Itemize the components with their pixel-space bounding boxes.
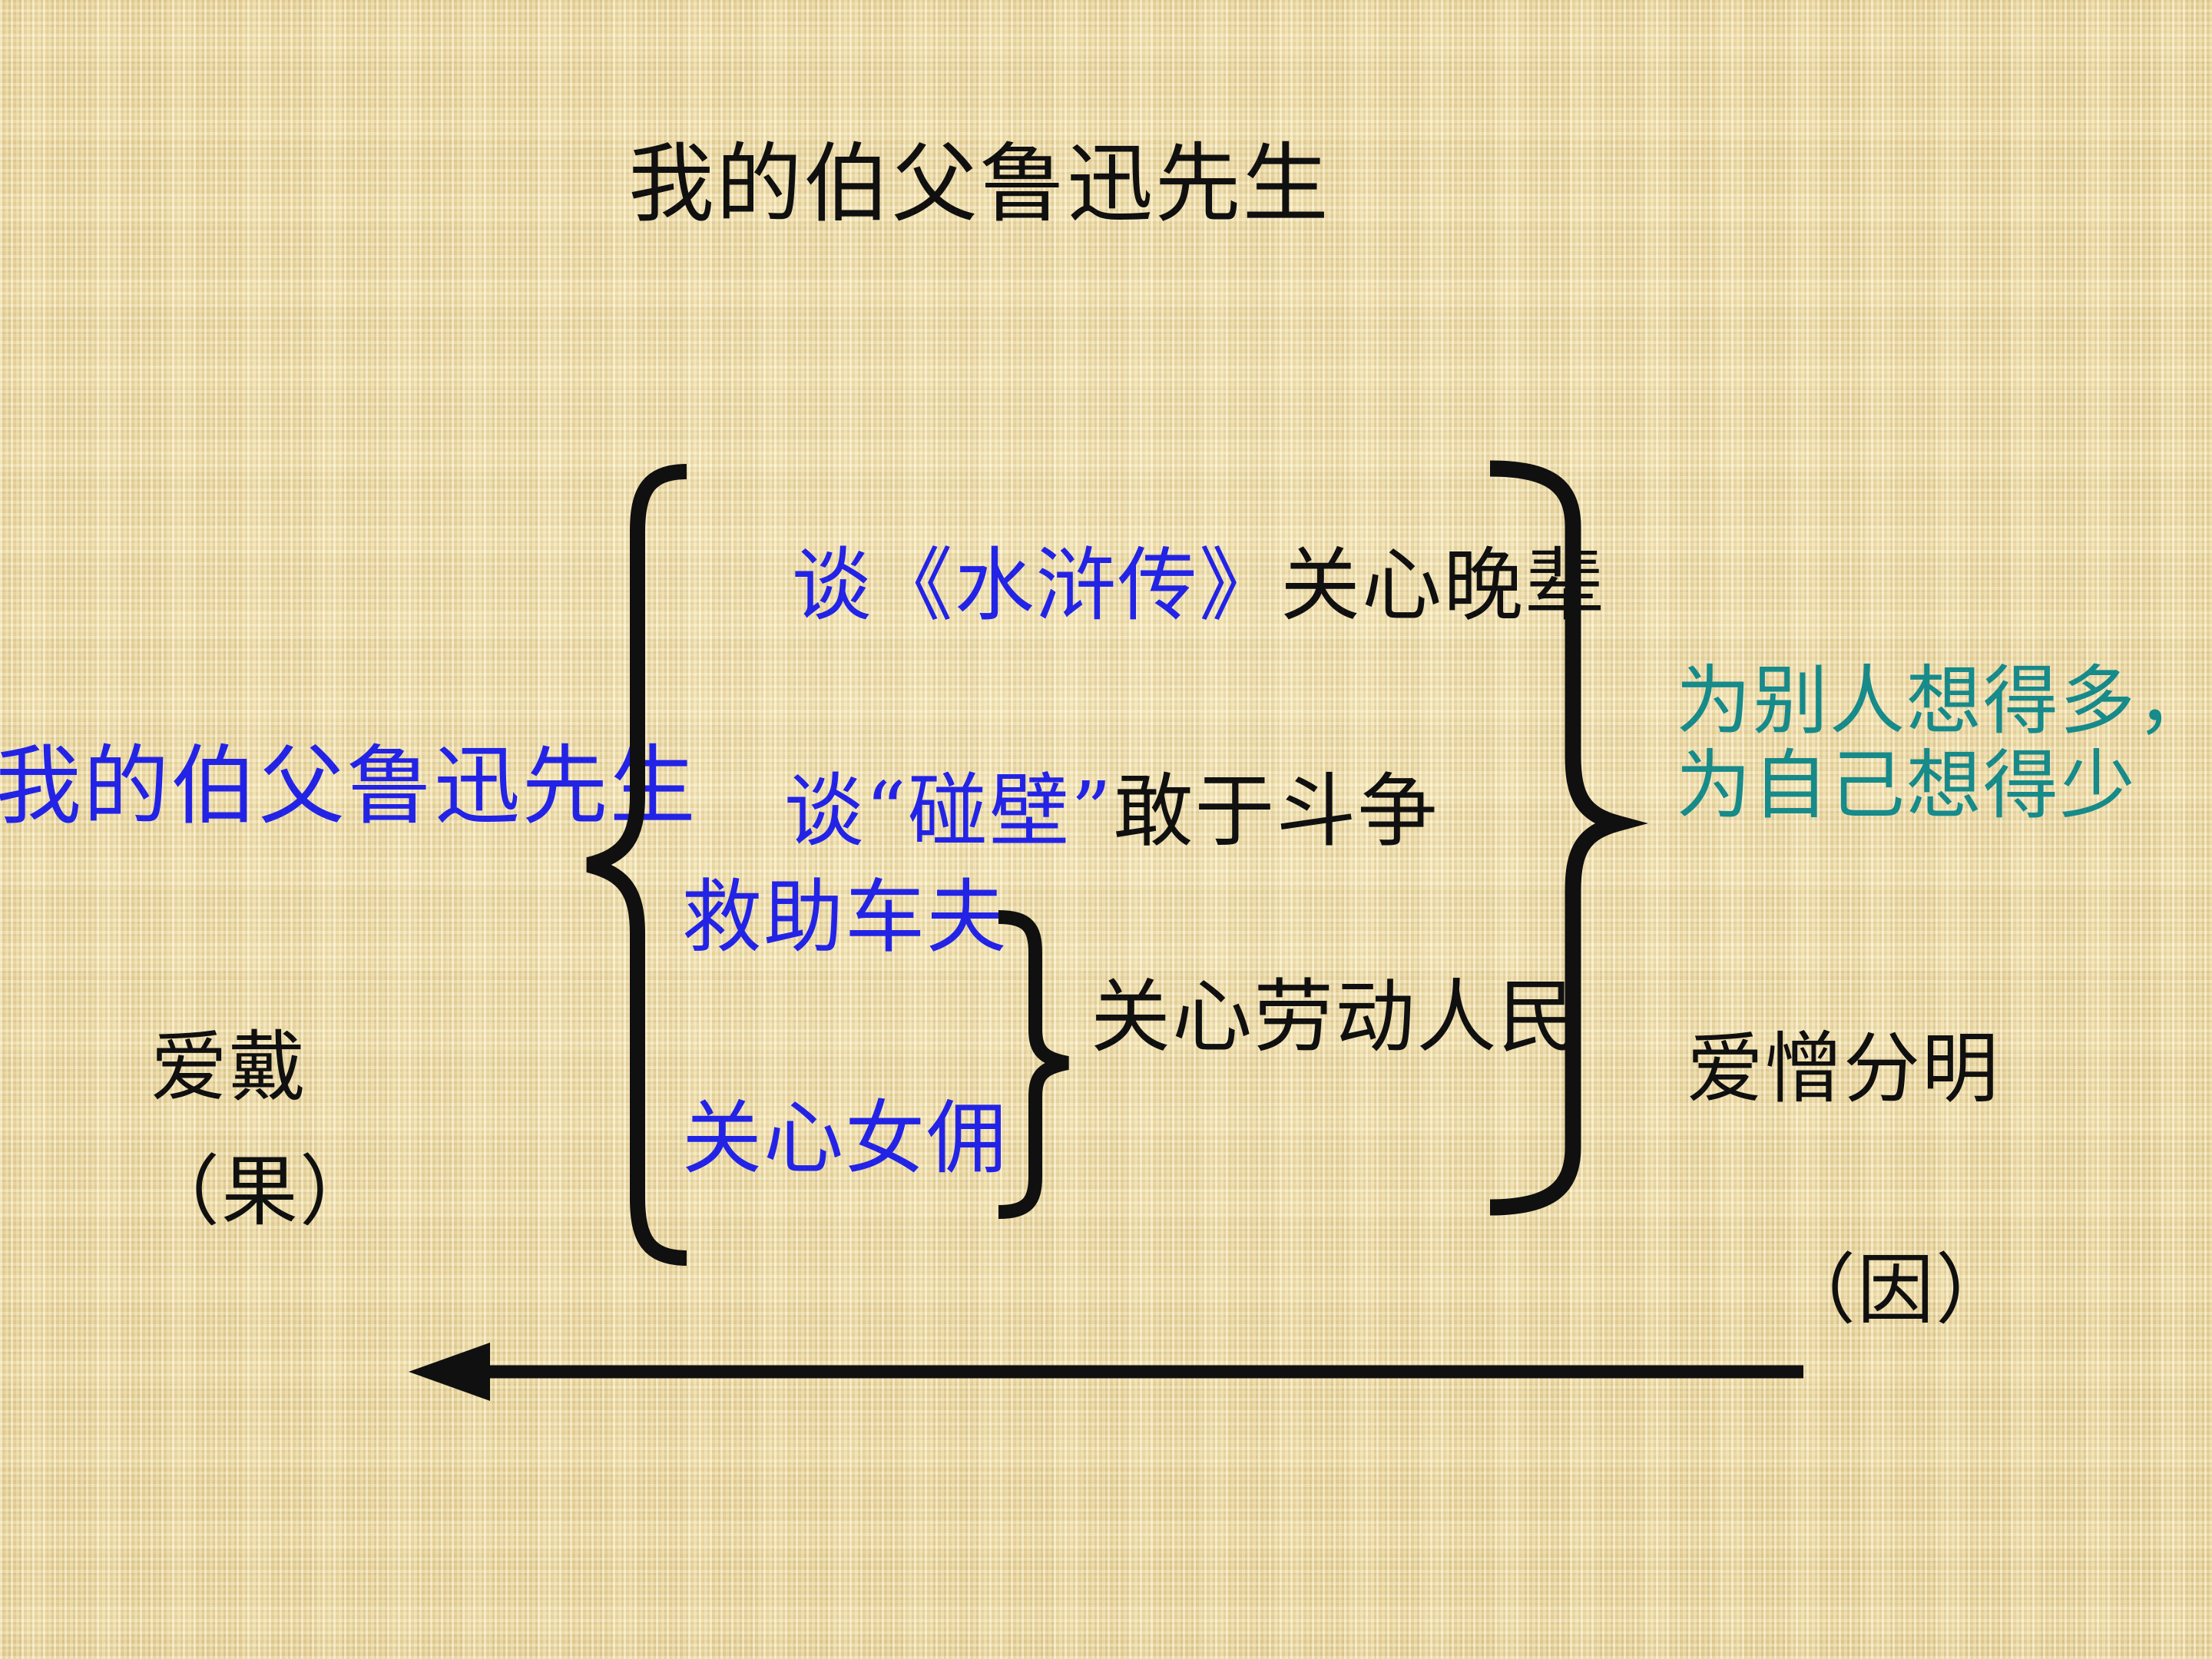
- effect-annotation: （果）: [143, 1149, 378, 1235]
- episode-2-event: 谈“碰壁”: [784, 764, 1114, 858]
- episode-1-event: 谈《水浒传》: [792, 538, 1280, 632]
- cause-annotation: （因）: [1779, 1247, 2014, 1333]
- episode-2-trait: 敢于斗争: [1113, 764, 1439, 858]
- cause-to-effect-arrow: [399, 1336, 1813, 1421]
- slide-canvas: 我的伯父鲁迅先生 我的伯父鲁迅先生 爱戴 （果） 谈《水浒传》关心晚辈 谈“碰壁…: [0, 0, 2212, 1659]
- cause-label: 爱憎分明: [1687, 1026, 2000, 1112]
- slide-title: 我的伯父鲁迅先生: [628, 137, 1330, 233]
- conclusion-line-1: 为别人想得多，: [1676, 659, 2212, 745]
- episode-1-trait: 关心晚辈: [1280, 538, 1606, 632]
- episode-3-event: 救助车夫: [682, 873, 1008, 962]
- effect-label: 爱戴: [151, 1025, 307, 1111]
- grouped-trait-label: 关心劳动人民: [1091, 972, 1579, 1061]
- episode-4-event: 关心女佣: [682, 1094, 1008, 1183]
- subject-label: 我的伯父鲁迅先生: [0, 739, 697, 835]
- conclusion-line-2: 为自己想得少: [1676, 743, 2137, 829]
